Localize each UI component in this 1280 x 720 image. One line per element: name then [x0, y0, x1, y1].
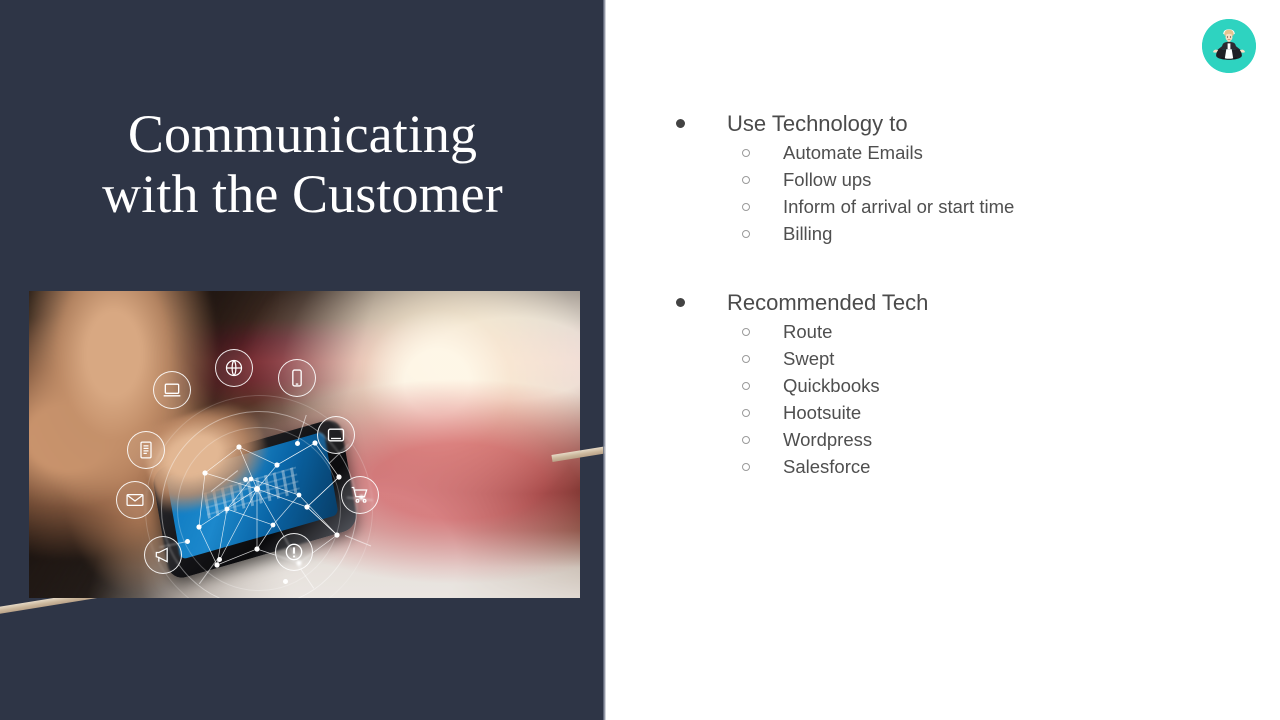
slide-canvas: Communicating with the Customer [0, 0, 1280, 720]
mesh-node [185, 539, 190, 544]
bullet-level2: Hootsuite [676, 399, 1246, 426]
bullet-marker-hollow-icon [742, 149, 750, 157]
hand-holding-smartphone-photo [29, 291, 580, 598]
bullet-marker-hollow-icon [742, 355, 750, 363]
bullet-level2-label: Salesforce [783, 453, 870, 480]
megaphone-icon [144, 536, 182, 574]
shopping-cart-icon [341, 476, 379, 514]
tablet-icon [317, 416, 355, 454]
bullet-marker-hollow-icon [742, 328, 750, 336]
bullet-level1-label: Recommended Tech [727, 287, 928, 318]
bullet-marker-hollow-icon [742, 436, 750, 444]
laptop-icon [153, 371, 191, 409]
bullet-group: Recommended Tech Route Swept Quickbooks … [676, 287, 1246, 480]
bullet-level2: Swept [676, 345, 1246, 372]
bullet-level2-label: Automate Emails [783, 139, 923, 166]
panel-edge-highlight [603, 0, 606, 720]
bullet-level2: Quickbooks [676, 372, 1246, 399]
bullet-marker-filled-icon [676, 119, 685, 128]
bullet-level2-label: Wordpress [783, 426, 872, 453]
bullet-marker-filled-icon [676, 298, 685, 307]
bullet-level2-label: Inform of arrival or start time [783, 193, 1014, 220]
bullet-level1-label: Use Technology to [727, 108, 908, 139]
bullet-marker-hollow-icon [742, 230, 750, 238]
envelope-icon [116, 481, 154, 519]
bullet-level2-label: Swept [783, 345, 834, 372]
mesh-node [283, 579, 288, 584]
maid-yoga-logo[interactable] [1202, 19, 1256, 73]
globe-icon [215, 349, 253, 387]
bullet-level2-label: Route [783, 318, 832, 345]
bullet-marker-hollow-icon [742, 203, 750, 211]
bullet-level2: Salesforce [676, 453, 1246, 480]
bullet-level2-label: Billing [783, 220, 832, 247]
bullet-marker-hollow-icon [742, 382, 750, 390]
smartphone-icon [278, 359, 316, 397]
mesh-node [243, 477, 248, 482]
title-panel: Communicating with the Customer [0, 0, 605, 720]
bullet-level2: Route [676, 318, 1246, 345]
bullet-level2: Automate Emails [676, 139, 1246, 166]
mesh-node [217, 557, 222, 562]
bullet-level2: Wordpress [676, 426, 1246, 453]
bullet-level2: Follow ups [676, 166, 1246, 193]
info-icon [275, 533, 313, 571]
bullet-level2: Inform of arrival or start time [676, 193, 1246, 220]
bullet-level2: Billing [676, 220, 1246, 247]
slide-title: Communicating with the Customer [0, 104, 605, 225]
bullet-marker-hollow-icon [742, 463, 750, 471]
bullet-group: Use Technology to Automate Emails Follow… [676, 108, 1246, 247]
maid-figure-icon [1202, 19, 1256, 73]
bullet-level1: Recommended Tech [676, 287, 1246, 318]
document-icon [127, 431, 165, 469]
bullet-marker-hollow-icon [742, 176, 750, 184]
mesh-node [295, 441, 300, 446]
bullet-level1: Use Technology to [676, 108, 1246, 139]
bullet-level2-label: Follow ups [783, 166, 871, 193]
bullet-level2-label: Hootsuite [783, 399, 861, 426]
bullet-marker-hollow-icon [742, 409, 750, 417]
bullet-content-area: Use Technology to Automate Emails Follow… [676, 108, 1246, 480]
bullet-level2-label: Quickbooks [783, 372, 880, 399]
